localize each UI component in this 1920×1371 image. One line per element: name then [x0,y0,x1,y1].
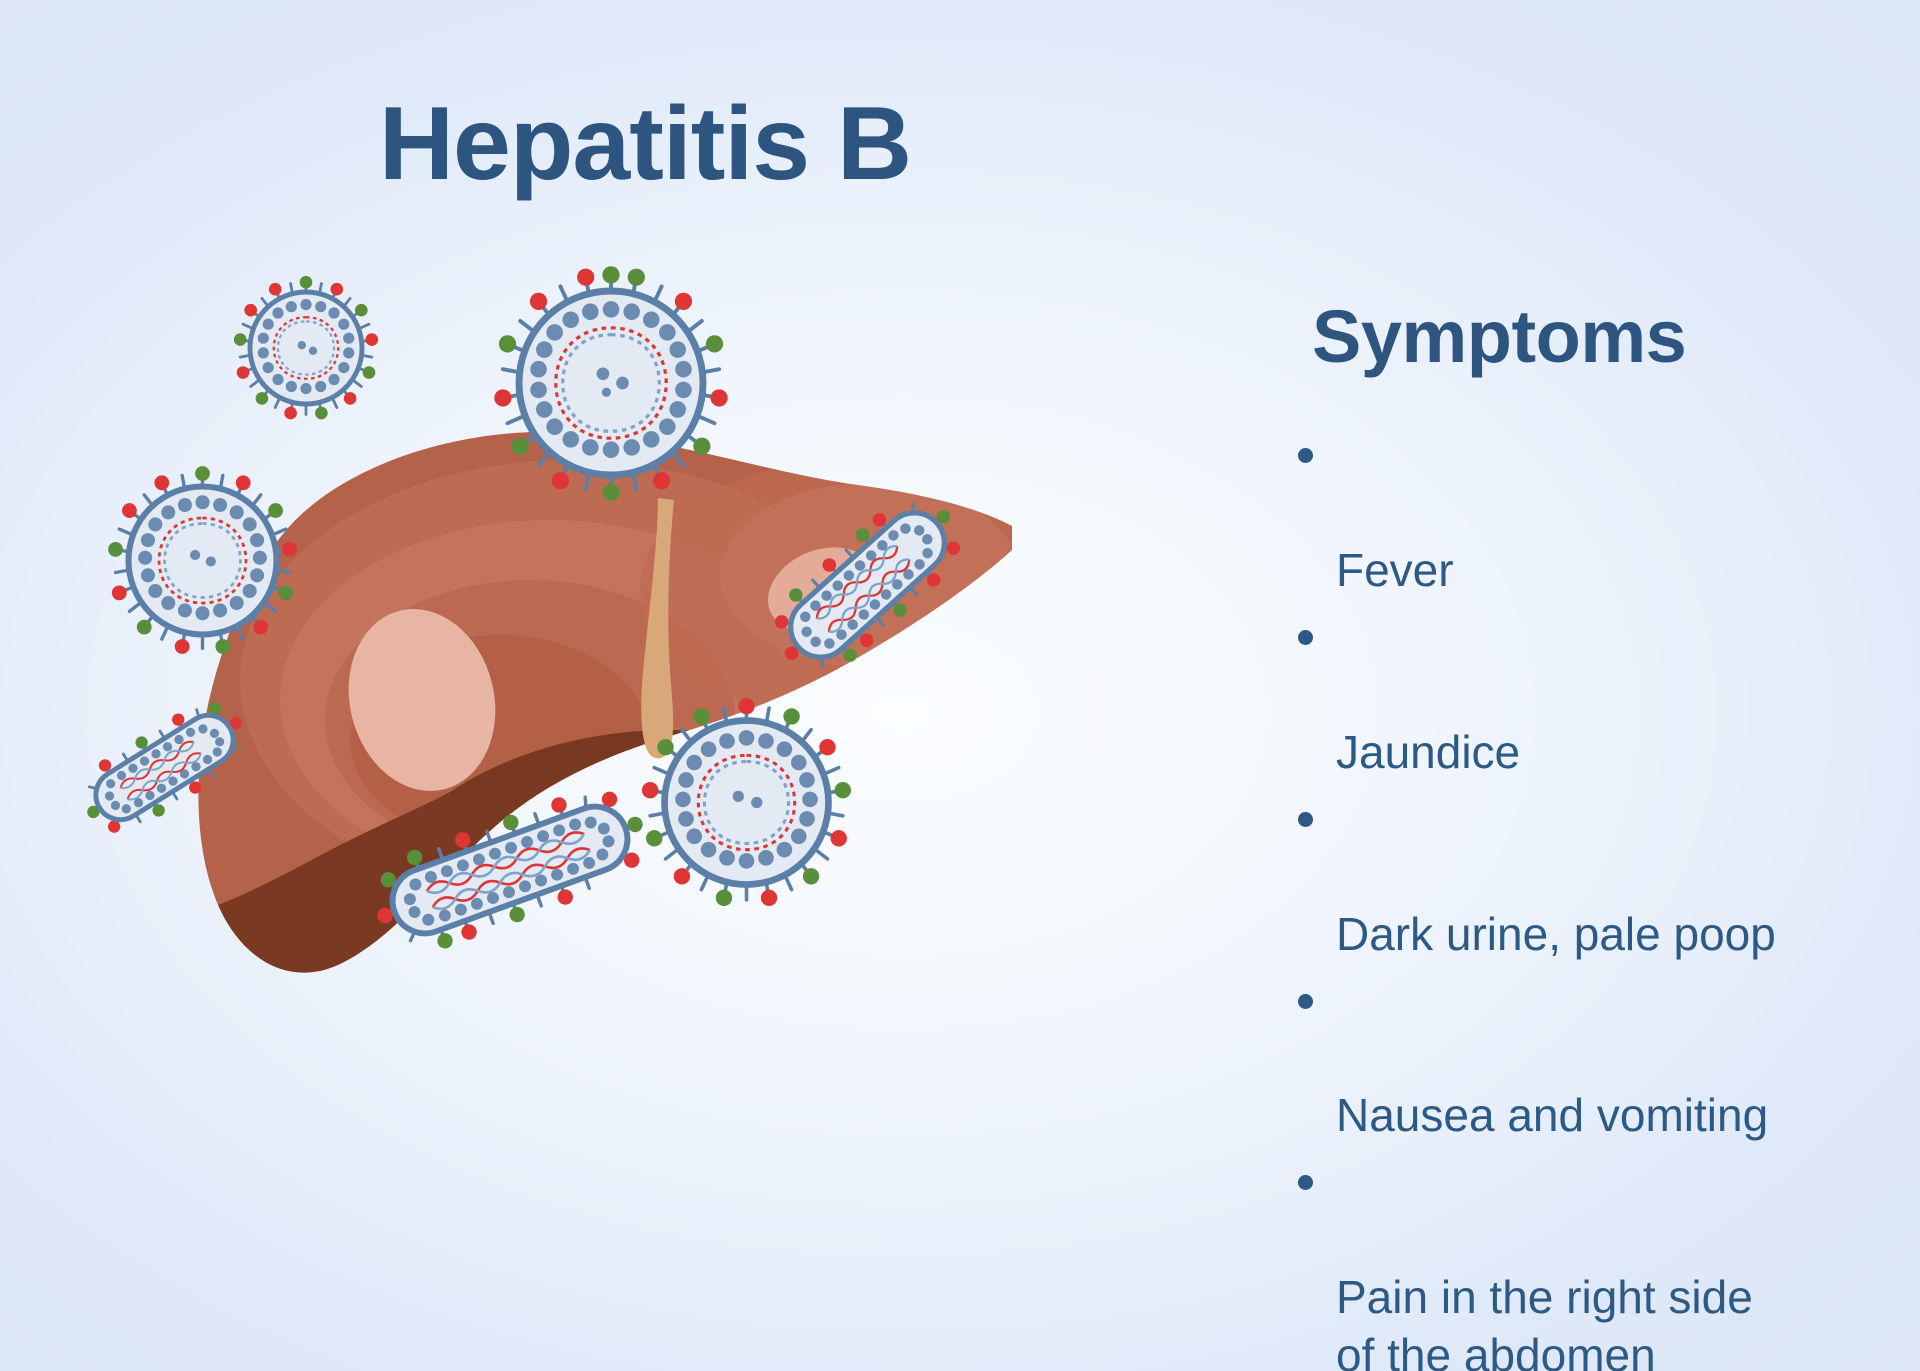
symptom-item-abdominal-pain: Pain in the right side of the abdomen [1290,1153,1910,1371]
bullet-icon [1298,630,1313,645]
symptoms-panel: Symptoms Fever Jaundice Dark urine, pale… [1290,300,1910,1371]
symptom-label: Fever [1336,544,1454,596]
virus-particle-bottom-right [644,700,849,905]
virus-particle-top-left [236,278,376,418]
page-title: Hepatitis B [0,92,1290,196]
infographic-poster: Hepatitis B [0,0,1920,1371]
bullet-icon [1298,812,1313,827]
virus-particle-top-center [496,268,726,498]
symptom-label: Dark urine, pale poop [1336,908,1776,960]
symptom-item-jaundice: Jaundice [1290,608,1910,782]
symptom-label: Nausea and vomiting [1336,1089,1768,1141]
bullet-icon [1298,448,1313,463]
symptom-item-dark-urine: Dark urine, pale poop [1290,790,1910,964]
virus-particle-mid-left [110,468,295,653]
symptoms-heading: Symptoms [1312,300,1910,374]
symptoms-list: Fever Jaundice Dark urine, pale poop Nau… [1290,426,1910,1371]
symptom-label: Pain in the right side of the abdomen [1336,1271,1753,1371]
symptom-label: Jaundice [1336,726,1520,778]
symptom-item-fever: Fever [1290,426,1910,600]
symptom-item-nausea: Nausea and vomiting [1290,972,1910,1146]
bullet-icon [1298,1175,1313,1190]
bullet-icon [1298,994,1313,1009]
